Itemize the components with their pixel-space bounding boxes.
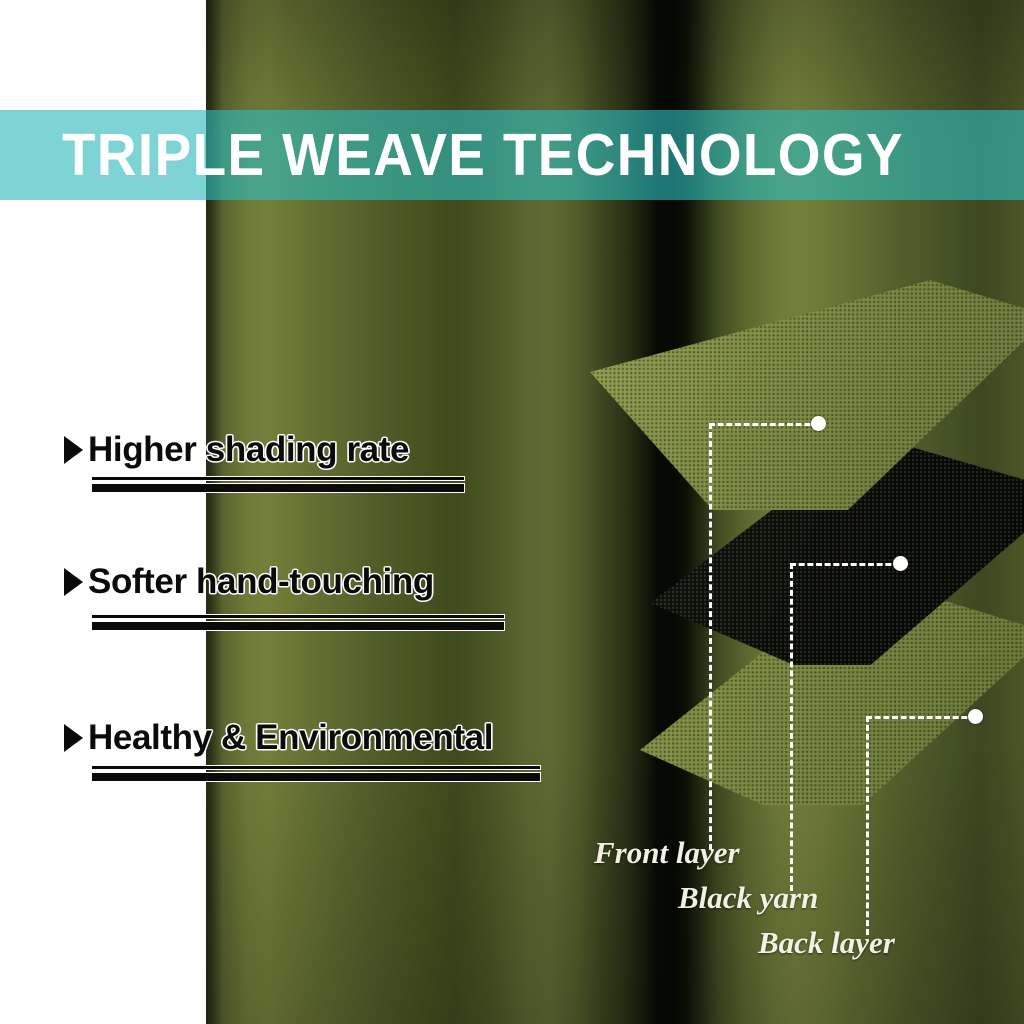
rule-thin-line xyxy=(92,477,464,480)
feature-item-3: Healthy & Environmental xyxy=(64,718,493,758)
feature-item-1: Higher shading rate xyxy=(64,430,409,470)
layer-label-front: Front layer xyxy=(594,835,740,871)
feature-rule-1 xyxy=(92,477,464,492)
callout-dot-black-yarn xyxy=(893,556,908,571)
rule-thick-line xyxy=(92,773,540,781)
promo-image: TRIPLE WEAVE TECHNOLOGY Higher shading r… xyxy=(0,0,1024,1024)
rule-thin-line xyxy=(92,766,540,769)
banner: TRIPLE WEAVE TECHNOLOGY xyxy=(0,110,1024,200)
rule-thick-line xyxy=(92,622,504,630)
feature-rule-3 xyxy=(92,766,540,781)
callout-dot-back xyxy=(968,709,983,724)
triple-weave-layer-diagram xyxy=(590,285,1024,855)
layer-label-black-yarn: Black yarn xyxy=(678,880,818,916)
feature-rule-2 xyxy=(92,615,504,630)
triangle-right-icon xyxy=(64,724,83,752)
feature-item-2: Softer hand-touching xyxy=(64,562,434,602)
leader-vertical xyxy=(709,423,712,850)
leader-horizontal xyxy=(866,716,976,719)
triangle-right-icon xyxy=(64,436,83,464)
leader-horizontal xyxy=(790,563,900,566)
banner-title: TRIPLE WEAVE TECHNOLOGY xyxy=(62,126,904,185)
rule-thick-line xyxy=(92,484,464,492)
feature-label-3: Healthy & Environmental xyxy=(88,718,493,758)
layer-label-back: Back layer xyxy=(758,925,895,961)
leader-vertical xyxy=(866,716,869,935)
leader-horizontal xyxy=(709,423,819,426)
callout-dot-front xyxy=(811,416,826,431)
feature-label-2: Softer hand-touching xyxy=(88,562,434,602)
triangle-right-icon xyxy=(64,568,83,596)
leader-vertical xyxy=(790,563,793,891)
rule-thin-line xyxy=(92,615,504,618)
feature-label-1: Higher shading rate xyxy=(88,430,409,470)
